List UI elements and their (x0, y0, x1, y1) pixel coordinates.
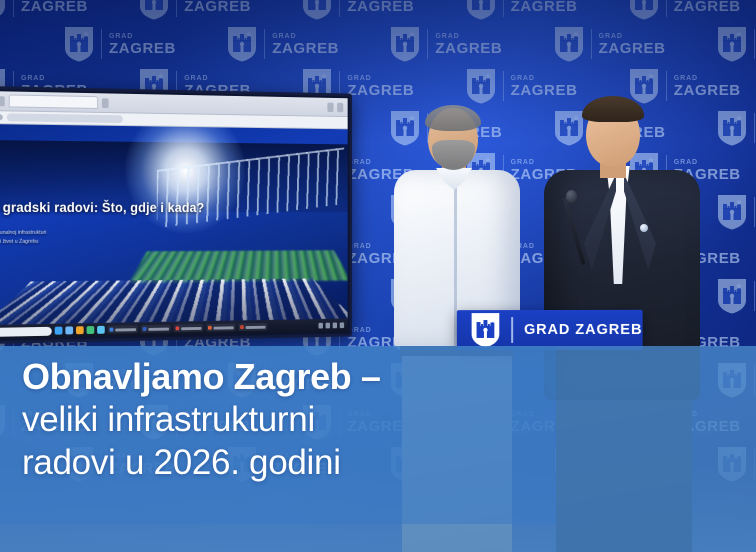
taskbar-window-label (181, 326, 201, 329)
browser-back-icon[interactable] (0, 96, 5, 106)
backdrop-brand-large: ZAGREB (347, 0, 414, 14)
backdrop-tile-divider (754, 113, 755, 143)
taskbar-window-button[interactable] (206, 323, 235, 331)
battery-icon (333, 323, 337, 329)
backdrop-brand-large: ZAGREB (674, 0, 741, 14)
taskbar-window-button[interactable] (108, 325, 138, 333)
backdrop-brand-text: GRAD ZAGREB (674, 0, 741, 14)
microphone-icon (566, 190, 577, 203)
zagreb-coat-of-arms-icon (717, 26, 747, 62)
podium-divider (511, 317, 513, 343)
backdrop-brand-text: GRAD ZAGREB (599, 33, 666, 56)
speaker-left-hair (425, 105, 481, 131)
backdrop-brand-tile: GRAD ZAGREB (460, 0, 623, 44)
backdrop-brand-small: GRAD (674, 75, 741, 82)
taskbar-task-view-icon[interactable] (65, 326, 73, 334)
backdrop-brand-text: GRAD ZAGREB (347, 0, 414, 14)
network-icon (318, 323, 322, 329)
slide-content: Aktualni gradski radovi: Što, gdje i kad… (0, 124, 348, 325)
backdrop-brand-tile: GRAD ZAGREB (16, 2, 179, 86)
browser-tab[interactable] (9, 94, 98, 109)
backdrop-brand-large: ZAGREB (347, 83, 414, 98)
presentation-monitor: Aktualni gradski radovi: Što, gdje i kad… (0, 86, 352, 344)
backdrop-tile-divider (754, 29, 755, 59)
taskbar-window-label (148, 327, 169, 330)
backdrop-brand-tile: GRAD ZAGREB (296, 0, 459, 44)
backdrop-tile-divider (339, 0, 340, 17)
backdrop-brand-small: GRAD (435, 33, 502, 40)
zagreb-coat-of-arms-icon (302, 0, 332, 20)
zagreb-coat-of-arms-icon (466, 0, 496, 20)
backdrop-brand-text: GRAD ZAGREB (347, 75, 414, 98)
zagreb-coat-of-arms-icon (629, 0, 659, 20)
taskbar-window-button[interactable] (141, 325, 171, 333)
backdrop-brand-large: ZAGREB (21, 0, 88, 14)
headline-block: Obnavljamo Zagreb – veliki infrastruktur… (22, 356, 542, 483)
backdrop-brand-text: GRAD ZAGREB (272, 33, 339, 56)
backdrop-brand-large: ZAGREB (599, 41, 666, 56)
clock-icon (340, 322, 344, 328)
backdrop-tile-divider (591, 29, 592, 59)
zagreb-coat-of-arms-icon (471, 312, 501, 348)
backdrop-brand-large: ZAGREB (511, 0, 578, 14)
lapel-pin-icon (640, 224, 648, 232)
speaker-right-hair (582, 96, 644, 122)
taskbar-mail-icon[interactable] (87, 326, 95, 334)
backdrop-brand-tile: GRAD ZAGREB (0, 0, 133, 44)
taskbar-window-label (115, 328, 136, 331)
zagreb-coat-of-arms-icon (466, 68, 496, 104)
backdrop-brand-small: GRAD (184, 75, 251, 82)
taskbar-window-button[interactable] (174, 324, 204, 332)
taskbar-window-button[interactable] (238, 323, 267, 331)
taskbar-window-label (246, 325, 266, 328)
lock-icon (0, 114, 3, 120)
zagreb-coat-of-arms-icon (554, 26, 584, 62)
podium-sign: GRAD ZAGREB (457, 310, 643, 350)
taskbar-window-label (214, 326, 234, 329)
backdrop-brand-text: GRAD ZAGREB (435, 33, 502, 56)
backdrop-tile-divider (666, 0, 667, 17)
zagreb-coat-of-arms-icon (717, 194, 747, 230)
backdrop-tile-divider (427, 29, 428, 59)
slide-green-tram-track-grass (129, 250, 348, 283)
taskbar-system-tray[interactable] (318, 322, 344, 328)
window-minimize-icon[interactable] (327, 102, 333, 112)
backdrop-tile-divider (754, 197, 755, 227)
podium-label: GRAD ZAGREB (524, 322, 642, 338)
press-conference-screenshot: GRAD ZAGREB GRAD ZAGREB GRAD ZAGREB (0, 0, 756, 552)
address-input[interactable] (7, 113, 123, 123)
backdrop-brand-large: ZAGREB (184, 0, 251, 14)
backdrop-tile-divider (176, 0, 177, 17)
backdrop-brand-text: GRAD ZAGREB (184, 0, 251, 14)
taskbar-window-icon (240, 325, 244, 329)
slide-subtitle: Pregled radova na komunalnoj infrastrukt… (0, 228, 46, 246)
backdrop-brand-text: GRAD ZAGREB (511, 0, 578, 14)
taskbar-window-icon (208, 326, 212, 330)
zagreb-coat-of-arms-icon (717, 278, 747, 314)
backdrop-tile-divider (101, 29, 102, 59)
taskbar-search-input[interactable] (0, 326, 52, 336)
backdrop-brand-large: ZAGREB (272, 41, 339, 56)
headline-line-3: radovi u 2026. godini (22, 442, 542, 483)
slide-subtitle-line1: Pregled radova na komunalnoj infrastrukt… (0, 229, 46, 235)
backdrop-brand-small: GRAD (599, 33, 666, 40)
backdrop-tile-divider (13, 0, 14, 17)
monitor-screen: Aktualni gradski radovi: Što, gdje i kad… (0, 91, 348, 339)
headline-line-1: Obnavljamo Zagreb – (22, 356, 542, 398)
zagreb-coat-of-arms-icon (227, 26, 257, 62)
backdrop-brand-tile: GRAD ZAGREB (342, 2, 505, 86)
window-close-icon[interactable] (337, 102, 343, 112)
taskbar-window-icon (143, 327, 147, 331)
backdrop-brand-text: GRAD ZAGREB (511, 75, 578, 98)
taskbar-start-icon[interactable] (55, 327, 63, 335)
backdrop-brand-small: GRAD (511, 75, 578, 82)
slide-tram-tracks (0, 278, 348, 325)
backdrop-tile-divider (503, 71, 504, 101)
backdrop-brand-tile: GRAD ZAGREB (669, 2, 756, 86)
slide-title: Aktualni gradski radovi: Što, gdje i kad… (0, 200, 204, 215)
zagreb-coat-of-arms-icon (717, 110, 747, 146)
backdrop-brand-tile: GRAD ZAGREB (133, 0, 296, 44)
backdrop-tile-divider (503, 0, 504, 17)
backdrop-tile-divider (264, 29, 265, 59)
taskbar-browser-icon[interactable] (97, 326, 105, 334)
taskbar-window-icon (176, 326, 180, 330)
backdrop-brand-small: GRAD (21, 75, 88, 82)
zagreb-coat-of-arms-icon (64, 26, 94, 62)
taskbar-file-explorer-icon[interactable] (76, 326, 84, 334)
slide-subtitle-line2: i utjecaj na svakodnevni život u Zagrebu (0, 238, 38, 244)
volume-icon (326, 323, 330, 329)
backdrop-tile-divider (754, 281, 755, 311)
backdrop-brand-small: GRAD (272, 33, 339, 40)
backdrop-brand-text: GRAD ZAGREB (21, 0, 88, 14)
backdrop-brand-tile: GRAD ZAGREB (623, 0, 756, 44)
backdrop-brand-small: GRAD (109, 33, 176, 40)
speaker-left-beard (432, 140, 475, 170)
zagreb-coat-of-arms-icon (390, 26, 420, 62)
backdrop-brand-tile: GRAD ZAGREB (179, 2, 342, 86)
headline-line-2: veliki infrastrukturni (22, 399, 542, 440)
backdrop-brand-large: ZAGREB (109, 41, 176, 56)
zagreb-coat-of-arms-icon (139, 0, 169, 20)
new-tab-icon[interactable] (102, 98, 109, 108)
taskbar-window-icon (110, 328, 114, 332)
zagreb-coat-of-arms-icon (0, 0, 6, 20)
backdrop-brand-large: ZAGREB (435, 41, 502, 56)
backdrop-brand-tile: GRAD ZAGREB (506, 2, 669, 86)
backdrop-brand-small: GRAD (347, 75, 414, 82)
backdrop-brand-text: GRAD ZAGREB (674, 75, 741, 98)
backdrop-brand-text: GRAD ZAGREB (109, 33, 176, 56)
